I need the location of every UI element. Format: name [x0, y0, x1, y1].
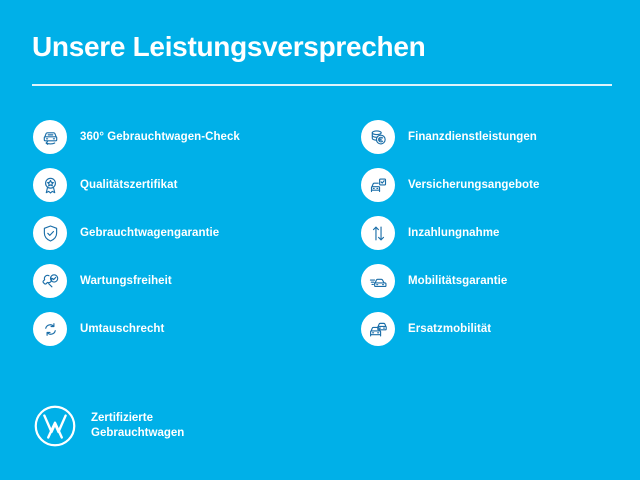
promise-label: Gebrauchtwagengarantie [80, 227, 219, 239]
award-rosette-icon [33, 168, 67, 202]
promise-label: Umtauschrecht [80, 323, 164, 335]
promise-label: Ersatzmobilität [408, 323, 491, 335]
car-motion-icon [361, 264, 395, 298]
page-title: Unsere Leistungsversprechen [32, 30, 425, 64]
car-360-check-icon [33, 120, 67, 154]
promise-item-versicherungsangebote[interactable]: Versicherungsangebote [361, 168, 636, 202]
promise-item-gebrauchtwagen-check[interactable]: 360° Gebrauchtwagen-Check [33, 120, 333, 154]
promise-item-wartungsfreiheit[interactable]: Wartungsfreiheit [33, 264, 333, 298]
brand-text: Zertifizierte Gebrauchtwagen [91, 411, 184, 441]
promise-label: Versicherungsangebote [408, 179, 539, 191]
two-cars-icon [361, 312, 395, 346]
coins-euro-icon [361, 120, 395, 154]
promises-column-right: Finanzdienstleistungen Versicheru [361, 120, 636, 360]
brand-lockup: Zertifizierte Gebrauchtwagen [33, 404, 184, 448]
exchange-arrows-icon [33, 312, 67, 346]
promise-item-inzahlungnahme[interactable]: Inzahlungnahme [361, 216, 636, 250]
promises-panel: Unsere Leistungsversprechen 360° G [0, 0, 640, 480]
car-document-check-icon [361, 168, 395, 202]
arrows-up-down-icon [361, 216, 395, 250]
promise-item-mobilitaetsgarantie[interactable]: Mobilitätsgarantie [361, 264, 636, 298]
promise-label: Inzahlungnahme [408, 227, 499, 239]
promise-label: Mobilitätsgarantie [408, 275, 507, 287]
promises-column-left: 360° Gebrauchtwagen-Check Qualitätszerti… [33, 120, 333, 360]
promise-item-finanzdienstleistungen[interactable]: Finanzdienstleistungen [361, 120, 636, 154]
brand-line-1: Zertifizierte [91, 412, 153, 424]
promise-item-ersatzmobilitaet[interactable]: Ersatzmobilität [361, 312, 636, 346]
wrench-check-icon [33, 264, 67, 298]
shield-check-icon [33, 216, 67, 250]
promise-label: Finanzdienstleistungen [408, 131, 537, 143]
title-divider [32, 84, 612, 86]
brand-line-2: Gebrauchtwagen [91, 427, 184, 439]
promise-label: Qualitätszertifikat [80, 179, 177, 191]
promise-item-umtauschrecht[interactable]: Umtauschrecht [33, 312, 333, 346]
promise-item-qualitaetszertifikat[interactable]: Qualitätszertifikat [33, 168, 333, 202]
volkswagen-logo [33, 404, 77, 448]
promise-label: 360° Gebrauchtwagen-Check [80, 131, 240, 143]
promise-label: Wartungsfreiheit [80, 275, 172, 287]
promise-item-gebrauchtwagengarantie[interactable]: Gebrauchtwagengarantie [33, 216, 333, 250]
